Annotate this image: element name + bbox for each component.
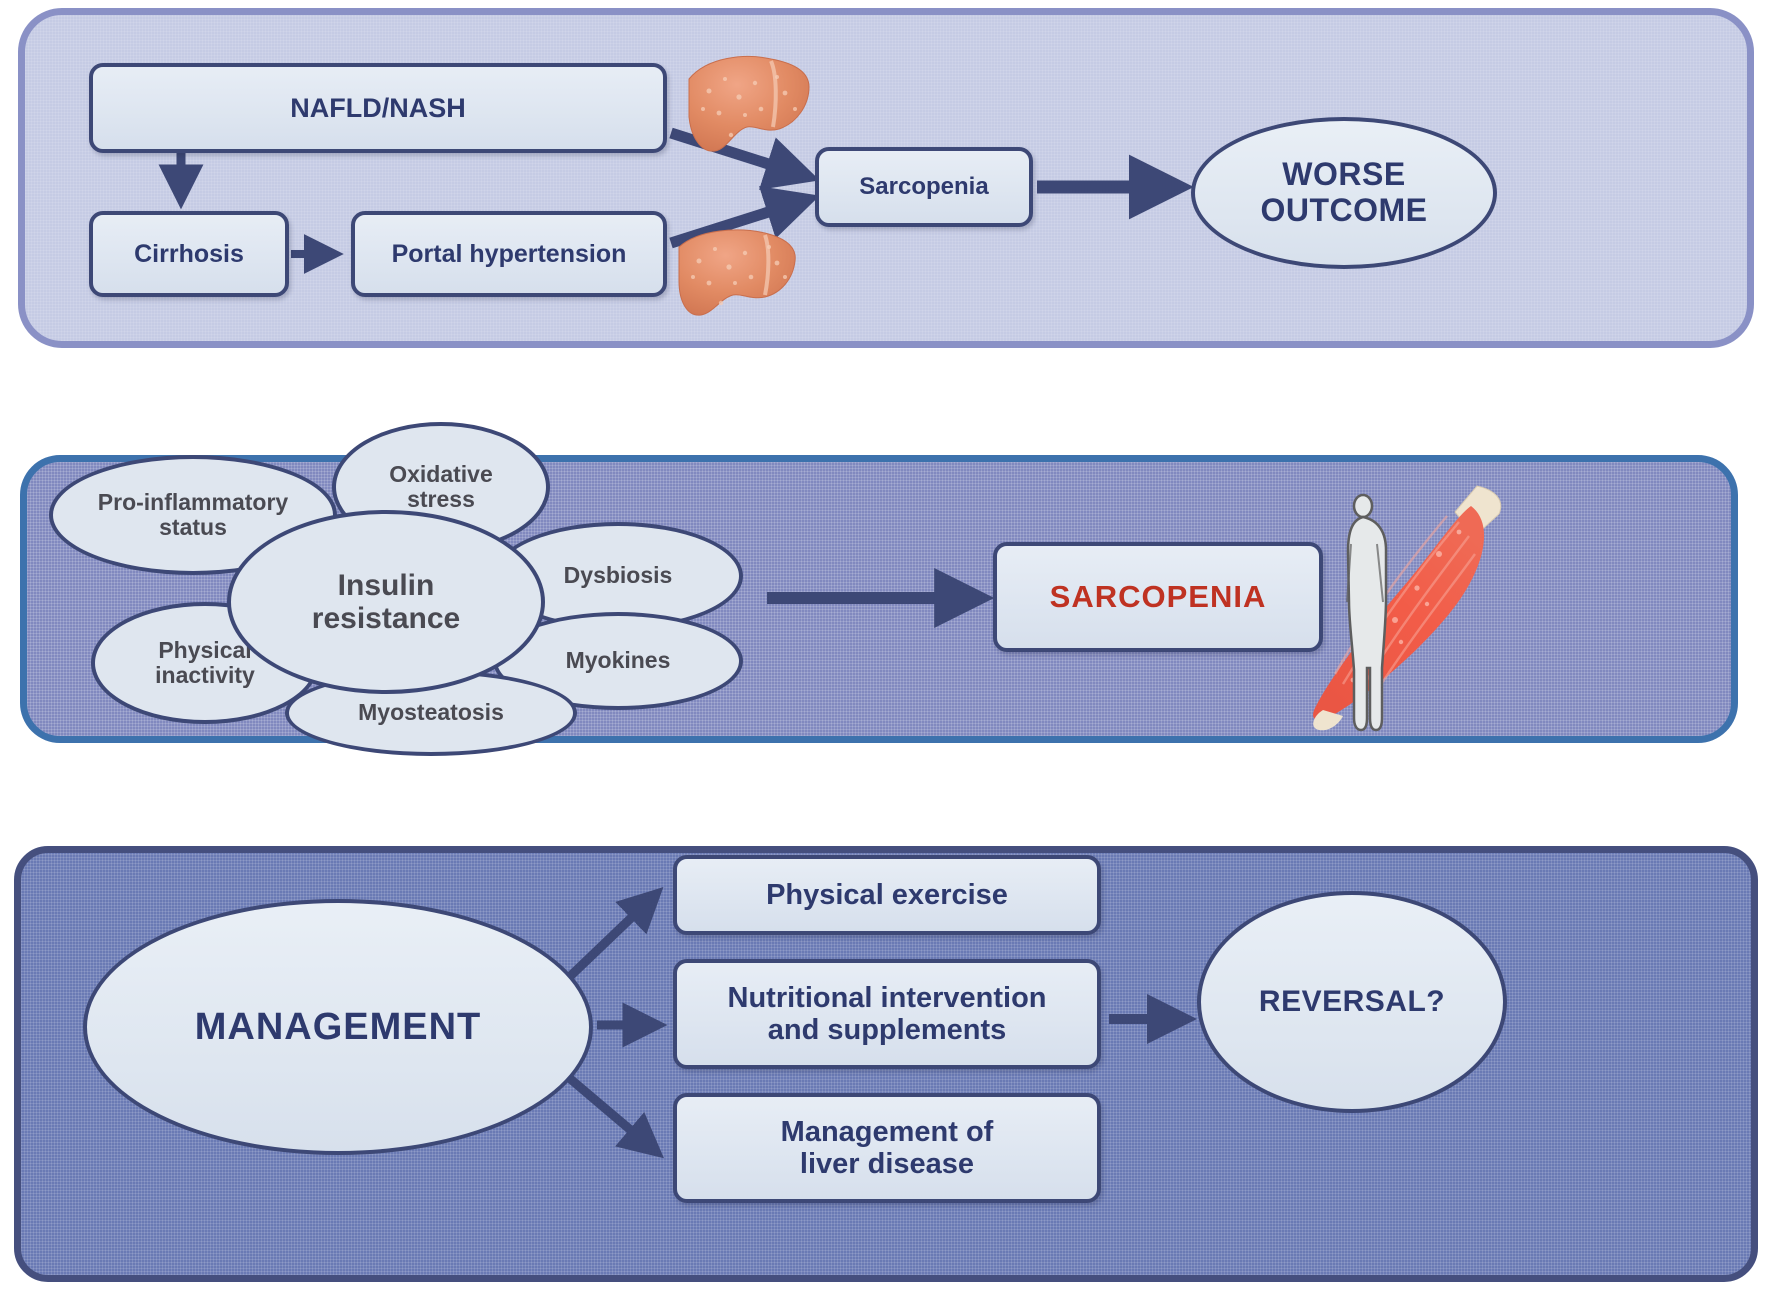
node-reversal[interactable]: REVERSAL? <box>1197 891 1507 1113</box>
node-physical-exercise-label: Physical exercise <box>766 879 1008 911</box>
arrow-management-to-liver-disease <box>561 1071 653 1149</box>
node-physical-exercise[interactable]: Physical exercise <box>673 855 1101 935</box>
worse-outcome-line1: WORSE <box>1282 156 1405 192</box>
node-worse-outcome[interactable]: WORSE OUTCOME <box>1191 117 1497 269</box>
nutrition-line2: and supplements <box>768 1014 1007 1046</box>
node-sarcopenia-outcome[interactable]: SARCOPENIA <box>993 542 1323 652</box>
node-nutritional-intervention-label: Nutritional intervention and supplements <box>728 982 1047 1047</box>
node-nafld-nash-label: NAFLD/NASH <box>290 93 466 123</box>
oxidative-stress-line1: Oxidative <box>389 461 493 487</box>
pro-inflammatory-line2: status <box>159 514 227 540</box>
pro-inflammatory-line1: Pro-inflammatory <box>98 489 288 515</box>
node-sarcopenia-outcome-label: SARCOPENIA <box>1050 580 1267 615</box>
node-management-label: MANAGEMENT <box>195 1006 482 1049</box>
liver-icon <box>673 227 799 325</box>
node-myokines-label: Myokines <box>566 648 671 673</box>
node-sarcopenia[interactable]: Sarcopenia <box>815 147 1033 227</box>
node-reversal-label: REVERSAL? <box>1259 985 1445 1019</box>
node-insulin-resistance-label: Insulin resistance <box>312 569 460 635</box>
node-worse-outcome-label: WORSE OUTCOME <box>1260 157 1427 229</box>
node-cirrhosis-label: Cirrhosis <box>134 240 244 268</box>
nutrition-line1: Nutritional intervention <box>728 982 1047 1014</box>
human-silhouette-icon <box>1347 495 1386 730</box>
liver-icon <box>685 53 811 163</box>
node-myosteatosis-label: Myosteatosis <box>358 700 504 725</box>
node-insulin-resistance[interactable]: Insulin resistance <box>227 510 545 694</box>
muscle-belly <box>1313 506 1484 720</box>
node-portal-hypertension[interactable]: Portal hypertension <box>351 211 667 297</box>
node-management-of-liver-disease-label: Management of liver disease <box>781 1116 994 1181</box>
arrow-management-to-physical-exercise <box>561 897 653 985</box>
insulin-resistance-line2: resistance <box>312 602 460 635</box>
physical-inactivity-line1: Physical <box>158 637 251 663</box>
node-dysbiosis-label: Dysbiosis <box>564 563 673 588</box>
node-nafld-nash[interactable]: NAFLD/NASH <box>89 63 667 153</box>
physical-inactivity-line2: inactivity <box>155 662 255 688</box>
insulin-resistance-line1: Insulin <box>338 569 435 602</box>
node-cirrhosis[interactable]: Cirrhosis <box>89 211 289 297</box>
node-management-of-liver-disease[interactable]: Management of liver disease <box>673 1093 1101 1203</box>
node-portal-hypertension-label: Portal hypertension <box>392 240 627 268</box>
liver-disease-line2: liver disease <box>800 1148 974 1180</box>
oxidative-stress-line2: stress <box>407 486 475 512</box>
management-panel: MANAGEMENT Physical exercise Nutritional… <box>14 846 1758 1282</box>
node-nutritional-intervention[interactable]: Nutritional intervention and supplements <box>673 959 1101 1069</box>
worse-outcome-line2: OUTCOME <box>1260 192 1427 228</box>
node-oxidative-stress-label: Oxidative stress <box>389 462 493 513</box>
liver-disease-line1: Management of <box>781 1116 994 1148</box>
skeletal-muscle-icon <box>1309 484 1509 734</box>
node-sarcopenia-label: Sarcopenia <box>859 174 988 201</box>
disease-progression-panel: NAFLD/NASH Cirrhosis Portal hypertension… <box>18 8 1754 348</box>
node-pro-inflammatory-status-label: Pro-inflammatory status <box>98 490 288 541</box>
node-physical-inactivity-label: Physical inactivity <box>155 638 255 689</box>
node-management[interactable]: MANAGEMENT <box>83 899 593 1155</box>
mechanisms-panel: Pro-inflammatory status Oxidative stress… <box>20 455 1738 743</box>
